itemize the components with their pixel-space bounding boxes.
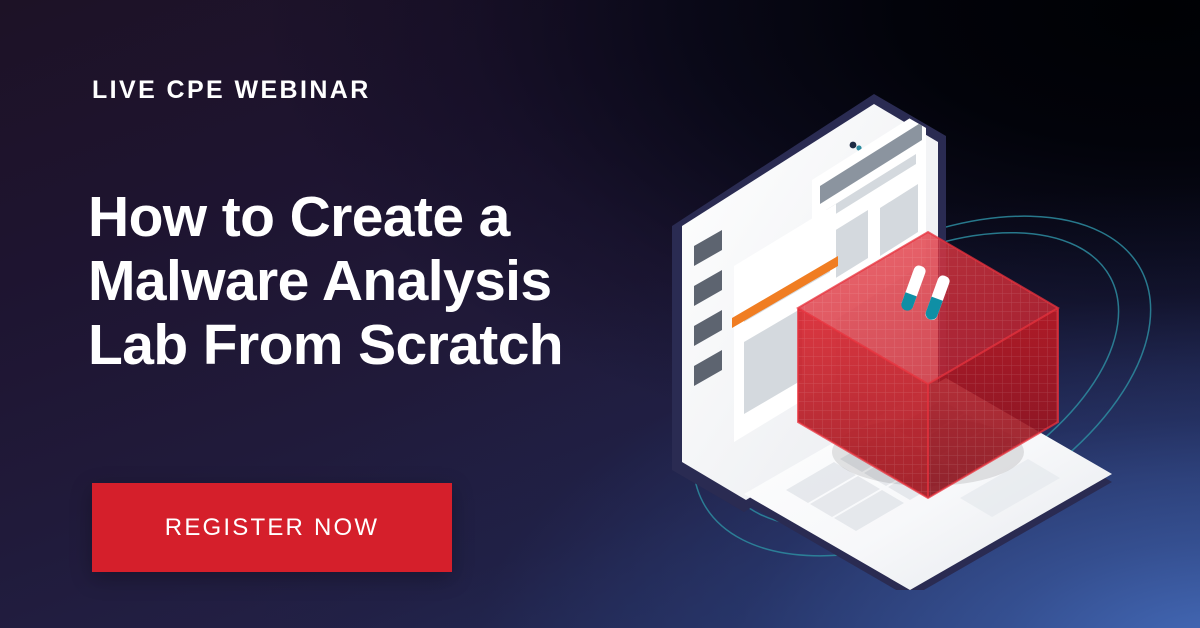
webinar-promo-banner: LIVE CPE WEBINAR How to Create a Malware… — [0, 0, 1200, 628]
headline-line-3: Lab From Scratch — [88, 314, 688, 378]
copy-block: LIVE CPE WEBINAR How to Create a Malware… — [92, 0, 692, 628]
register-now-button[interactable]: REGISTER NOW — [92, 483, 452, 572]
headline-line-2: Malware Analysis — [88, 250, 688, 314]
headline-line-1: How to Create a — [88, 186, 688, 250]
eyebrow-label: LIVE CPE WEBINAR — [92, 78, 371, 103]
page-title: How to Create a Malware Analysis Lab Fro… — [88, 186, 688, 377]
register-now-label: REGISTER NOW — [165, 514, 379, 542]
illustration — [660, 50, 1200, 590]
